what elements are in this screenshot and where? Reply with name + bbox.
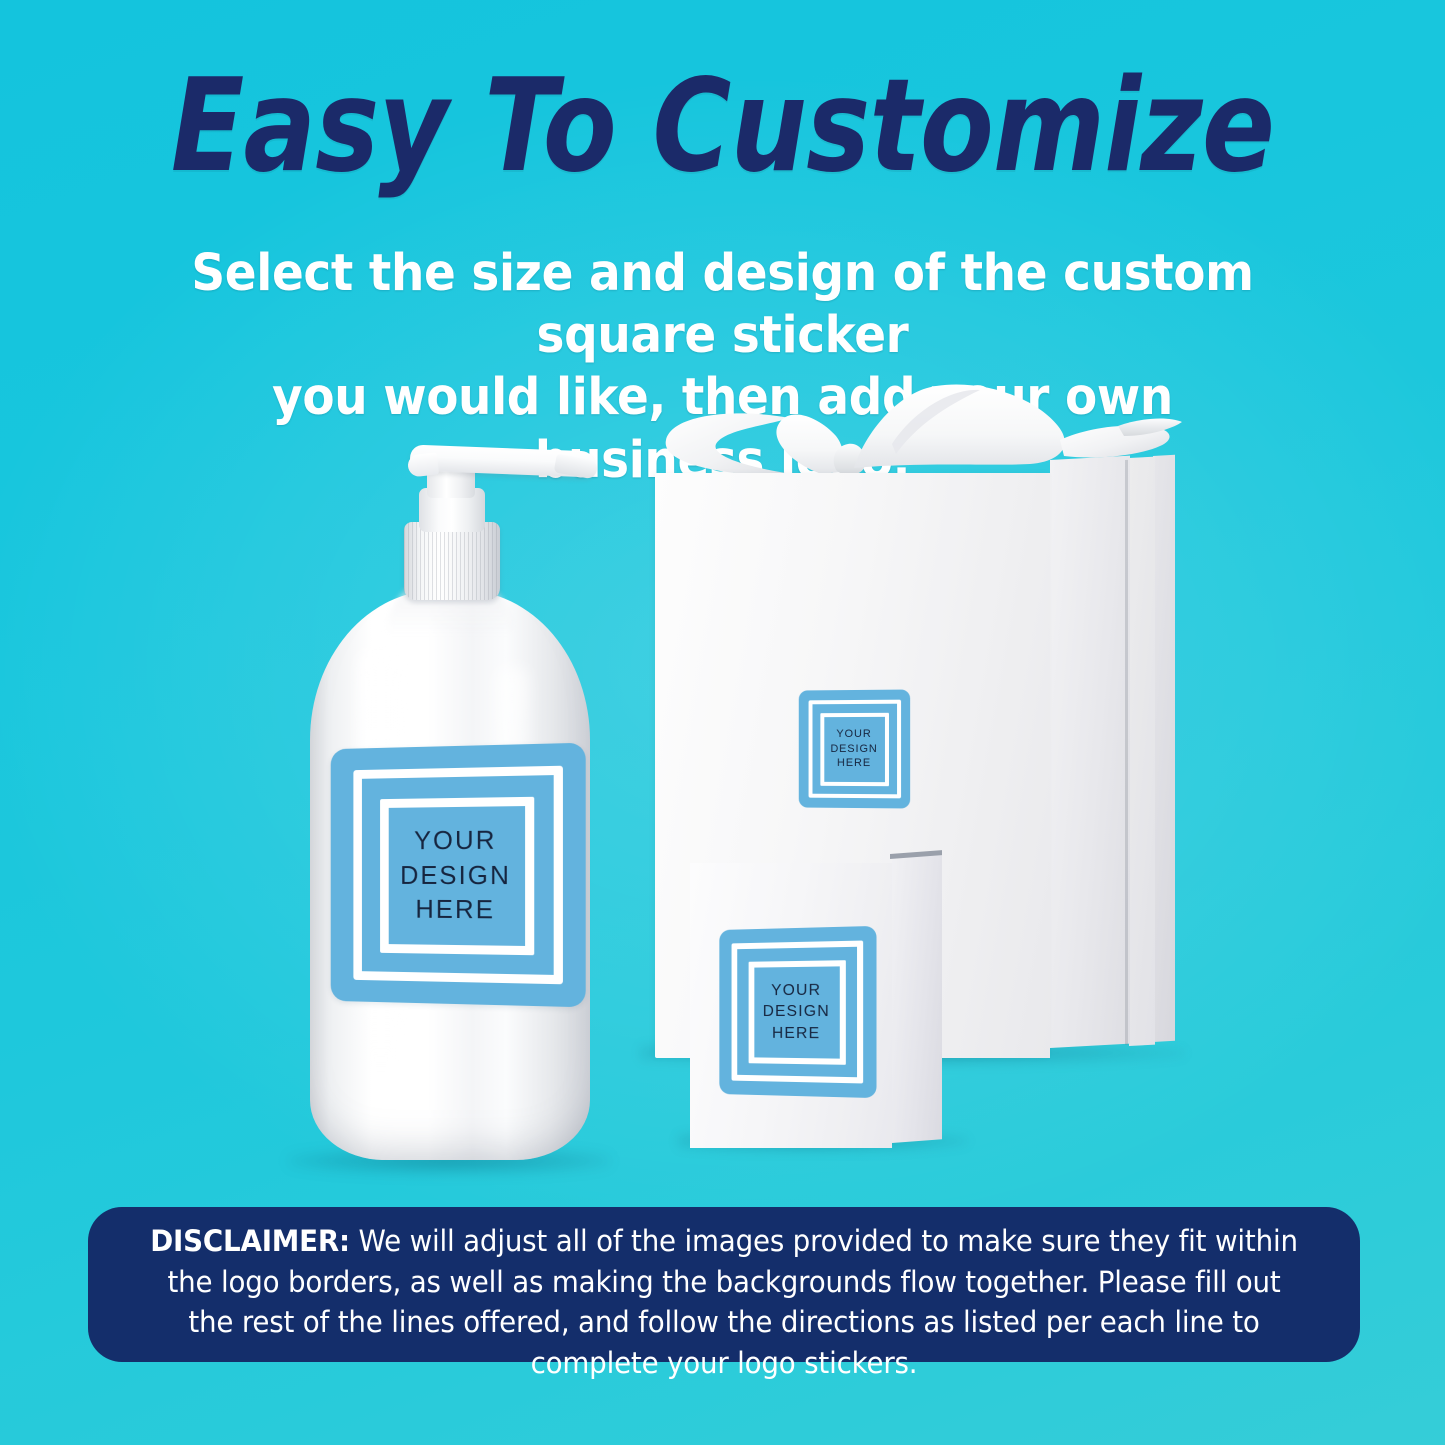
bottle-pump-nozzle-lip bbox=[407, 452, 439, 477]
sticker-text: YOUR DESIGN HERE bbox=[763, 980, 830, 1045]
gift-box-side-mid bbox=[1129, 456, 1155, 1045]
sticker-line-3: HERE bbox=[400, 892, 511, 928]
sticker-bottle[interactable]: YOUR DESIGN HERE bbox=[331, 743, 586, 1008]
promo-graphic: Easy To Customize Select the size and de… bbox=[0, 0, 1445, 1445]
sticker-text: YOUR DESIGN HERE bbox=[830, 727, 877, 771]
sticker-line-2: DESIGN bbox=[400, 857, 511, 892]
sticker-text: YOUR DESIGN HERE bbox=[400, 822, 511, 928]
gift-box-side bbox=[1050, 456, 1130, 1048]
disclaimer-text: DISCLAIMER: We will adjust all of the im… bbox=[149, 1221, 1299, 1383]
disclaimer-label: DISCLAIMER: bbox=[150, 1224, 350, 1258]
sticker-line-2: DESIGN bbox=[830, 742, 877, 757]
gift-box-seam bbox=[1125, 460, 1128, 1045]
sticker-line-2: DESIGN bbox=[763, 1001, 830, 1023]
sticker-smallbox[interactable]: YOUR DESIGN HERE bbox=[719, 926, 876, 1098]
sticker-line-1: YOUR bbox=[400, 822, 511, 858]
bottle-pump-collar bbox=[404, 522, 500, 600]
sticker-giftbox[interactable]: YOUR DESIGN HERE bbox=[799, 690, 910, 809]
small-box-side bbox=[892, 851, 942, 1143]
gift-box-side-far bbox=[1153, 455, 1175, 1042]
sticker-line-1: YOUR bbox=[763, 980, 830, 1002]
disclaimer-banner: DISCLAIMER: We will adjust all of the im… bbox=[88, 1207, 1360, 1362]
sticker-line-3: HERE bbox=[763, 1023, 830, 1045]
sticker-line-3: HERE bbox=[830, 756, 877, 771]
sticker-line-1: YOUR bbox=[830, 727, 877, 742]
